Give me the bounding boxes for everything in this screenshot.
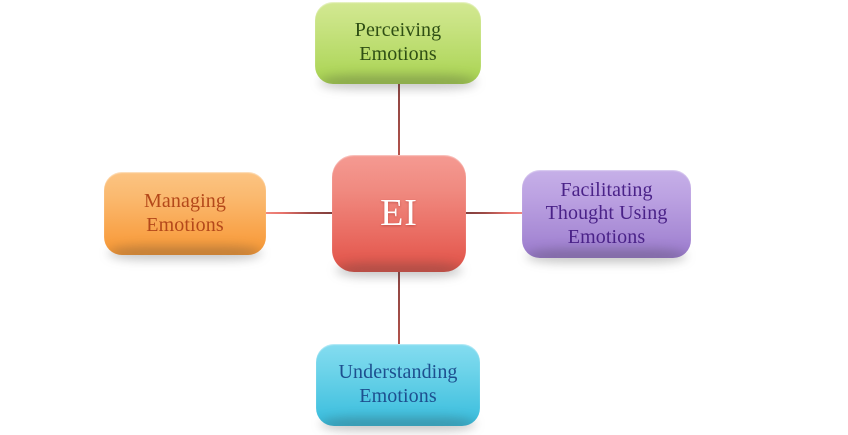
diagram-canvas: Perceiving Emotions Managing Emotions EI… <box>0 0 848 435</box>
connector-center-to-bottom <box>398 271 400 345</box>
node-managing-emotions-label: Managing Emotions <box>144 190 226 237</box>
node-understanding-emotions-label: Understanding Emotions <box>338 361 457 408</box>
connector-center-to-left <box>265 212 334 214</box>
node-understanding-emotions[interactable]: Understanding Emotions <box>316 344 480 426</box>
node-perceiving-emotions[interactable]: Perceiving Emotions <box>315 2 481 84</box>
node-facilitating-thought-using-emotions-label: Facilitating Thought Using Emotions <box>546 179 668 250</box>
connector-center-to-right <box>464 212 524 214</box>
node-perceiving-emotions-label: Perceiving Emotions <box>355 19 442 66</box>
connector-center-to-top <box>398 84 400 156</box>
node-managing-emotions[interactable]: Managing Emotions <box>104 172 266 255</box>
node-ei-center-label: EI <box>380 191 418 236</box>
node-facilitating-thought-using-emotions[interactable]: Facilitating Thought Using Emotions <box>522 170 691 258</box>
node-ei-center[interactable]: EI <box>332 155 466 272</box>
